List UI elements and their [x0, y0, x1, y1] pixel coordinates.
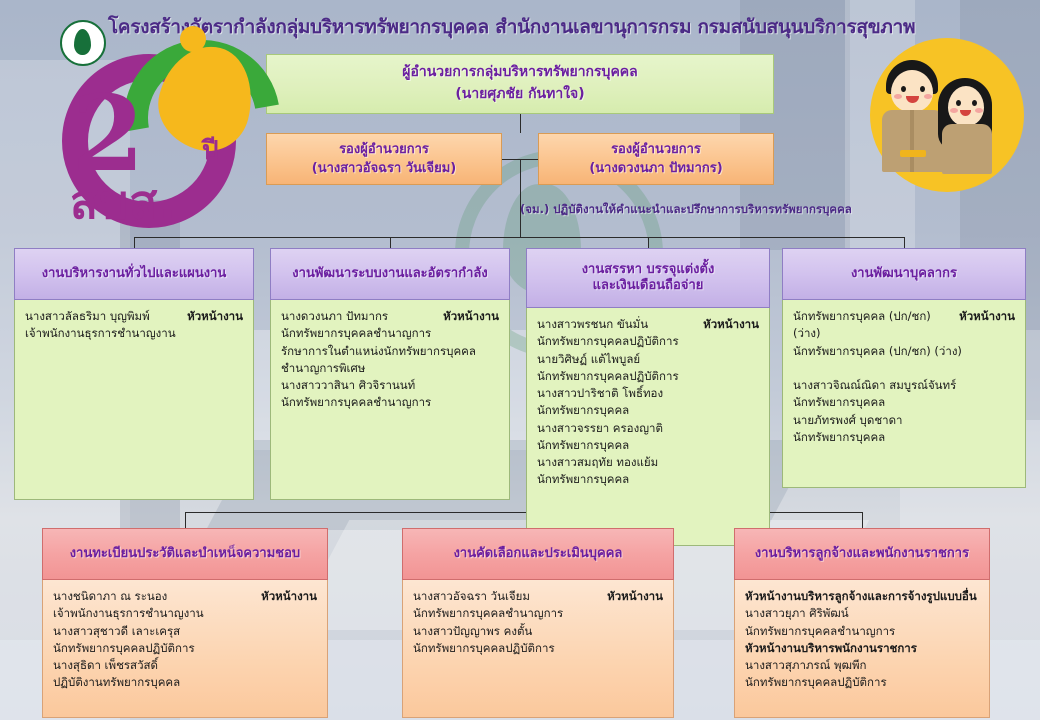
list-item: นักทรัพยากรบุคคลปฏิบัติการ [537, 368, 759, 385]
staff-name: นางดวงนภา ปัทมากร [281, 308, 388, 325]
staff-name: นักทรัพยากรบุคคล (ปก/ชก) (ว่าง) [793, 308, 953, 343]
connector-mid-row-horizontal [134, 237, 904, 238]
bottom-unit-1-staff-list: นางชนิดาภา ณ ระนอง หัวหน้างาน เจ้าพนักงา… [42, 580, 328, 718]
chief-label: หัวหน้างาน [607, 588, 663, 605]
list-item: นักทรัพยากรบุคคล (ปก/ชก) (ว่าง) หัวหน้าง… [793, 308, 1015, 343]
list-item: นางสาววาสินา ศิวจิรานนท์ [281, 377, 499, 394]
anniversary-logo: 2 ปี สบส. [52, 18, 242, 218]
deputy-director-box-2[interactable]: รองผู้อำนวยการ (นางดวงนภา ปัทมากร) [538, 133, 774, 185]
unit-3-header: งานสรรหา บรรจุแต่งตั้ง และเงินเดือนถือจ่… [526, 248, 770, 308]
connector-bottom-1-down [185, 512, 186, 528]
list-item: นางสาวปาริชาติ โพธิ์ทอง [537, 385, 759, 402]
sub-unit-heading: หัวหน้างานบริหารพนักงานราชการ [745, 640, 979, 657]
bottom-unit-3-title: งานบริหารลูกจ้างและพนักงานราชการ [755, 546, 969, 562]
list-item: นางสาวจรรยา ครองญาติ [537, 420, 759, 437]
unit-4-header: งานพัฒนาบุคลากร [782, 248, 1026, 300]
list-item: นางสาวพรชนก ขันมั่น หัวหน้างาน [537, 316, 759, 333]
logo-dot-yellow [180, 26, 206, 52]
staff-name: นางสาวอัจฉรา วันเจียม [413, 588, 530, 605]
male-cheek-right [924, 94, 932, 99]
list-item: นางสาวสุภาภรณ์ พุฒพีก [745, 657, 979, 674]
sub-unit-heading: หัวหน้างานบริหารลูกจ้างและการจ้างรูปแบบอ… [745, 588, 979, 605]
list-item: นักทรัพยากรบุคคล [793, 394, 1015, 411]
list-item: นางสาวจิณณ์ณิดา สมบูรณ์จันทร์ [793, 377, 1015, 394]
male-cheek-left [894, 94, 902, 99]
unit-1-staff-list: นางสาวลัลธริมา บุญพิมพ์ หัวหน้างาน เจ้าพ… [14, 300, 254, 500]
director-name: (นายศุภชัย กันทาใจ) [455, 84, 584, 106]
list-item: นางสาวสมฤทัย ทองแย้ม [537, 454, 759, 471]
unit-3-title-line2: และเงินเดือนถือจ่าย [593, 278, 704, 294]
deputy-1-title: รองผู้อำนวยการ [339, 140, 429, 160]
male-face [891, 70, 933, 112]
director-title: ผู้อำนวยการกลุ่มบริหารทรัพยากรบุคคล [402, 62, 638, 84]
list-item: นักทรัพยากรบุคคลชำนาญการ [281, 394, 499, 411]
staff-name: นางสาวลัลธริมา บุญพิมพ์ [25, 308, 150, 325]
ministry-of-public-health-emblem-icon [60, 20, 106, 66]
unit-box-recruitment[interactable]: งานสรรหา บรรจุแต่งตั้ง และเงินเดือนถือจ่… [526, 248, 770, 546]
list-item: เจ้าพนักงานธุรการชำนาญงาน [25, 325, 243, 342]
list-item: นางสาวลัลธริมา บุญพิมพ์ หัวหน้างาน [25, 308, 243, 325]
female-cheek-right [975, 108, 983, 113]
unit-box-system-development[interactable]: งานพัฒนาระบบงานและอัตรากำลัง นางดวงนภา ป… [270, 248, 510, 500]
chief-label: หัวหน้างาน [443, 308, 499, 325]
unit-box-personnel-records[interactable]: งานทะเบียนประวัติและบำเหน็จความชอบ นางชน… [42, 528, 328, 718]
deputy-1-name: (นางสาวอัจฉรา วันเจียม) [312, 159, 456, 179]
list-item: นักทรัพยากรบุคคลชำนาญการ [413, 605, 663, 622]
female-uniform [942, 124, 992, 174]
bottom-unit-1-title: งานทะเบียนประวัติและบำเหน็จความชอบ [70, 546, 300, 562]
list-item: นักทรัพยากรบุคคลปฏิบัติการ [537, 333, 759, 350]
female-eye-left [956, 100, 961, 106]
list-item: นางสาวสุชาวดี เลาะเครุส [53, 623, 317, 640]
unit-1-title: งานบริหารงานทั่วไปและแผนงาน [42, 266, 227, 282]
officials-illustration [870, 38, 1024, 192]
list-item: ปฏิบัติงานทรัพยากรบุคคล [53, 674, 317, 691]
female-cheek-left [950, 108, 958, 113]
list-item: นางสาวปัญญาพร คงตั้น [413, 623, 663, 640]
bottom-unit-3-staff-list: หัวหน้างานบริหารลูกจ้างและการจ้างรูปแบบอ… [734, 580, 990, 718]
unit-4-title: งานพัฒนาบุคลากร [851, 266, 957, 282]
unit-3-title: งานสรรหา บรรจุแต่งตั้ง [582, 262, 715, 278]
bottom-unit-2-title: งานคัดเลือกและประเมินบุคคล [454, 546, 623, 562]
list-item: นักทรัพยากรบุคคล [537, 471, 759, 488]
chief-label: หัวหน้างาน [703, 316, 759, 333]
connector-mid-3-down [648, 237, 649, 248]
list-item: นักทรัพยากรบุคคล [537, 402, 759, 419]
male-eye-left [901, 86, 906, 92]
bottom-unit-2-staff-list: นางสาวอัจฉรา วันเจียม หัวหน้างาน นักทรัพ… [402, 580, 674, 718]
deputy-director-box-1[interactable]: รองผู้อำนวยการ (นางสาวอัจฉรา วันเจียม) [266, 133, 502, 185]
list-item: นักทรัพยากรบุคคล [537, 437, 759, 454]
connector-mid-4-down [904, 237, 905, 248]
bottom-unit-3-header: งานบริหารลูกจ้างและพนักงานราชการ [734, 528, 990, 580]
list-item: นักทรัพยากรบุคคล [793, 429, 1015, 446]
logo-org-abbrev: สบส. [70, 166, 177, 239]
unit-box-employee-administration[interactable]: งานบริหารลูกจ้างและพนักงานราชการ หัวหน้า… [734, 528, 990, 718]
staff-name: นางชนิดาภา ณ ระนอง [53, 588, 167, 605]
unit-2-title: งานพัฒนาระบบงานและอัตรากำลัง [292, 266, 487, 282]
bottom-unit-2-header: งานคัดเลือกและประเมินบุคคล [402, 528, 674, 580]
unit-2-staff-list: นางดวงนภา ปัทมากร หัวหน้างาน นักทรัพยากร… [270, 300, 510, 500]
list-item: นักทรัพยากรบุคคลปฏิบัติการ [53, 640, 317, 657]
deputy-2-name: (นางดวงนภา ปัทมากร) [589, 159, 722, 179]
list-item: นักทรัพยากรบุคคลปฏิบัติการ [745, 674, 979, 691]
unit-2-header: งานพัฒนาระบบงานและอัตรากำลัง [270, 248, 510, 300]
connector-director-down [520, 114, 521, 133]
male-eye-right [920, 86, 925, 92]
unit-box-selection-evaluation[interactable]: งานคัดเลือกและประเมินบุคคล นางสาวอัจฉรา … [402, 528, 674, 718]
unit-1-header: งานบริหารงานทั่วไปและแผนงาน [14, 248, 254, 300]
connector-to-mid-row [520, 159, 521, 238]
staff-name: นางสาวพรชนก ขันมั่น [537, 316, 648, 333]
bottom-unit-1-header: งานทะเบียนประวัติและบำเหน็จความชอบ [42, 528, 328, 580]
unit-box-general-admin[interactable]: งานบริหารงานทั่วไปและแผนงาน นางสาวลัลธริ… [14, 248, 254, 500]
unit-box-personnel-development[interactable]: งานพัฒนาบุคลากร นักทรัพยากรบุคคล (ปก/ชก)… [782, 248, 1026, 488]
director-box[interactable]: ผู้อำนวยการกลุ่มบริหารทรัพยากรบุคคล (นาย… [266, 54, 774, 114]
female-face [948, 86, 984, 126]
list-item: นางสาวอัจฉรา วันเจียม หัวหน้างาน [413, 588, 663, 605]
list-item-spacer [793, 360, 1015, 377]
list-item: นักทรัพยากรบุคคลชำนาญการ [281, 325, 499, 342]
connector-mid-2-down [390, 237, 391, 248]
list-item: นักทรัพยากรบุคคลปฏิบัติการ [413, 640, 663, 657]
list-item: นายภัทรพงศ์ บุดชาดา [793, 412, 1015, 429]
list-item: นายวิศิษฏ์ แต้ไพบูลย์ [537, 351, 759, 368]
list-item: เจ้าพนักงานธุรการชำนาญงาน [53, 605, 317, 622]
unit-3-staff-list: นางสาวพรชนก ขันมั่น หัวหน้างาน นักทรัพยา… [526, 308, 770, 546]
list-item: นางสาวยุภา ศิริพัฒน์ [745, 605, 979, 622]
chief-label: หัวหน้างาน [187, 308, 243, 325]
list-item: รักษาการในตำแหน่งนักทรัพยากรบุคคล [281, 343, 499, 360]
deputy-2-title: รองผู้อำนวยการ [611, 140, 701, 160]
advisory-note: (จม.) ปฏิบัติงานให้คำแนะนำและปรึกษาการบร… [520, 201, 852, 219]
chief-label: หัวหน้างาน [261, 588, 317, 605]
male-belt [900, 150, 926, 157]
list-item: นักทรัพยากรบุคคล (ปก/ชก) (ว่าง) [793, 343, 1015, 360]
unit-4-staff-list: นักทรัพยากรบุคคล (ปก/ชก) (ว่าง) หัวหน้าง… [782, 300, 1026, 488]
chief-label: หัวหน้างาน [959, 308, 1015, 343]
connector-bottom-3-down [862, 512, 863, 528]
female-eye-right [972, 100, 977, 106]
male-uniform-placket [910, 110, 914, 172]
list-item: นางสุธิดา เพ็ชรสวัสดิ์ [53, 657, 317, 674]
list-item: นางดวงนภา ปัทมากร หัวหน้างาน [281, 308, 499, 325]
list-item: นักทรัพยากรบุคคลชำนาญการ [745, 623, 979, 640]
logo-year-label: ปี [202, 130, 219, 171]
list-item: ชำนาญการพิเศษ [281, 360, 499, 377]
list-item: นางชนิดาภา ณ ระนอง หัวหน้างาน [53, 588, 317, 605]
